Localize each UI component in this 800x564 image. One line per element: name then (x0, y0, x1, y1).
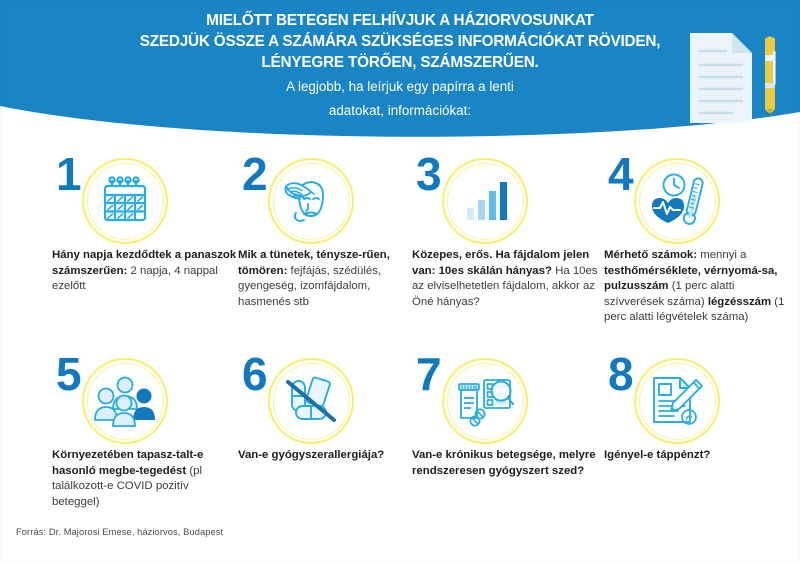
item-6-text-bold: Van-e gyógyszerallergiája? (238, 449, 384, 461)
item-2-text: Mik a tünetek, ténysze-rűen, tömören: fe… (238, 248, 424, 310)
item-3-badge: 3 (416, 156, 536, 248)
info-item-7: 7 (412, 356, 602, 479)
sick-pay-form-icon (634, 358, 720, 444)
item-8-text: Igényel-e táppénzt? (604, 448, 790, 464)
header-banner: MIELŐTT BETEGEN FELHÍVJUK A HÁZIORVOSUNK… (0, 0, 800, 140)
item-5-badge: 5 (56, 356, 176, 448)
headache-face-icon (268, 158, 354, 244)
item-4-number: 4 (608, 151, 633, 197)
item-4-text-bold-3: légzésszám (708, 296, 771, 308)
item-1-badge: 1 (56, 156, 176, 248)
item-8-number: 8 (608, 351, 633, 397)
item-2-badge: 2 (242, 156, 362, 248)
pill-bottle-checklist-icon (442, 358, 528, 444)
item-5-text: Környezetében tapasz-talt-e hasonló megb… (52, 448, 238, 510)
item-4-text-bold: Mérhető számok: (604, 249, 697, 261)
item-5-number: 5 (56, 351, 81, 397)
headline-line-3: LÉNYEGRE TÖRŐEN, SZÁMSZERŰEN. (0, 52, 800, 73)
item-4-badge: 4 (608, 156, 728, 248)
item-6-text: Van-e gyógyszerallergiája? (238, 448, 424, 464)
subline-line-2: adatokat, információkat: (0, 97, 800, 121)
info-item-6: 6 Van-e gyógysz (238, 356, 428, 464)
info-item-8: 8 (604, 356, 794, 464)
bar-chart-icon (442, 158, 528, 244)
item-4-text-normal: mennyi a (697, 249, 746, 261)
headline-line-1: MIELŐTT BETEGEN FELHÍVJUK A HÁZIORVOSUNK… (0, 10, 800, 31)
item-7-text: Van-e krónikus betegsége, melyre rendsze… (412, 448, 598, 479)
item-2-number: 2 (242, 151, 267, 197)
item-8-badge: 8 (608, 356, 728, 448)
info-item-2: 2 (238, 156, 428, 310)
item-1-text: Hány napja kezdődtek a panaszok számszer… (52, 248, 238, 295)
info-item-5: 5 (52, 356, 242, 510)
info-item-3: 3 Közepes, erős. Ha fájdalom jelen van: … (412, 156, 602, 310)
header-text-block: MIELŐTT BETEGEN FELHÍVJUK A HÁZIORVOSUNK… (0, 10, 800, 120)
item-5-text-bold: Környezetében tapasz-talt-e hasonló megb… (52, 449, 203, 477)
item-7-number: 7 (416, 351, 441, 397)
info-item-1: 1 (52, 156, 242, 295)
headline-line-2: SZEDJÜK ÖSSZE A SZÁMÁRA SZÜKSÉGES INFORM… (0, 31, 800, 52)
item-3-text: Közepes, erős. Ha fájdalom jelen van: 10… (412, 248, 598, 310)
subline-line-1: A legjobb, ha leírjuk egy papírra a lent… (0, 73, 800, 97)
heart-clock-thermometer-icon (634, 158, 720, 244)
item-6-badge: 6 (242, 356, 362, 448)
item-7-badge: 7 (416, 356, 536, 448)
group-of-people-icon (82, 358, 168, 444)
item-4-text: Mérhető számok: mennyi a testhőmérséklet… (604, 248, 790, 326)
calendar-icon (82, 158, 168, 244)
items-grid: 1 (0, 148, 800, 528)
source-credit: Forrás: Dr. Majorosi Emese, háziorvos, B… (16, 527, 223, 537)
item-6-number: 6 (242, 351, 267, 397)
info-item-4: 4 (604, 156, 794, 326)
item-3-number: 3 (416, 151, 441, 197)
no-medication-allergy-icon (268, 358, 354, 444)
item-7-text-bold: Van-e krónikus betegsége, melyre rendsze… (412, 449, 596, 477)
item-8-text-bold: Igényel-e táppénzt? (604, 449, 710, 461)
item-1-number: 1 (56, 151, 81, 197)
